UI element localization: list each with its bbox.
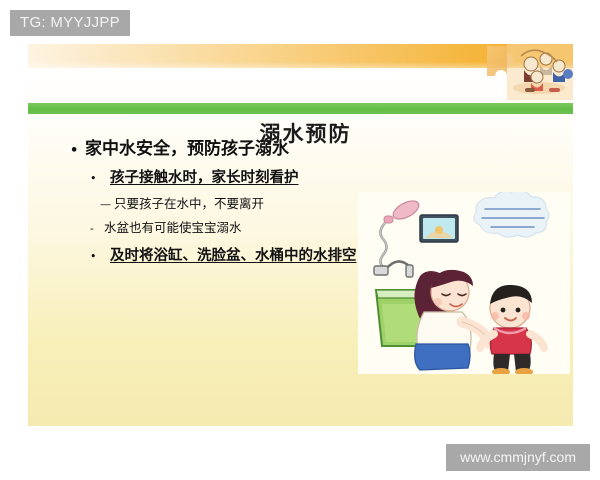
illustration-mother-bathing-child [358,192,570,374]
bullet-text: 水盆也有可能使宝宝溺水 [104,217,368,236]
bullet-item-level1: • 家中水安全，预防孩子溺水 [28,134,368,159]
framed-picture [420,215,458,242]
bullet-text: 及时将浴缸、洗脸盆、水桶中的水排空 [110,245,370,267]
bullet-item-level3: - 水盆也有可能使宝宝溺水 [28,217,368,236]
puzzle-piece-cartoon-figures-icon [473,44,573,100]
header-art [473,44,573,100]
bullet-text: 只要孩子在水中，不要离开 [114,193,368,212]
bullet-marker: • [90,172,110,185]
bullet-marker: • [70,143,85,158]
bullet-marker: - [90,222,104,235]
bullet-marker: • [90,250,110,263]
bullet-item-level3: — 只要孩子在水中，不要离开 [28,193,368,212]
bullet-item-level2: • 孩子接触水时，家长时刻看护 [28,166,368,187]
bullet-text: 孩子接触水时，家长时刻看护 [110,166,368,187]
title-green-bar [28,103,573,114]
thought-bubble [474,192,549,237]
mother-bathing-child-cartoon-icon [358,192,570,374]
watermark-badge: www.cmmjnyf.com [446,444,590,471]
tg-badge: TG: MYYJJPP [10,10,130,36]
bullet-list: • 家中水安全，预防孩子溺水 • 孩子接触水时，家长时刻看护 — 只要孩子在水中… [28,134,368,267]
bullet-item-level2: • 及时将浴缸、洗脸盆、水桶中的水排空 [28,245,370,267]
bullet-marker: — [100,198,114,211]
bullet-text: 家中水安全，预防孩子溺水 [85,134,368,159]
slide-canvas: 溺水预防 • 家中水安全，预防孩子溺水 • 孩子接触水时，家长时刻看护 — 只要… [28,44,573,426]
